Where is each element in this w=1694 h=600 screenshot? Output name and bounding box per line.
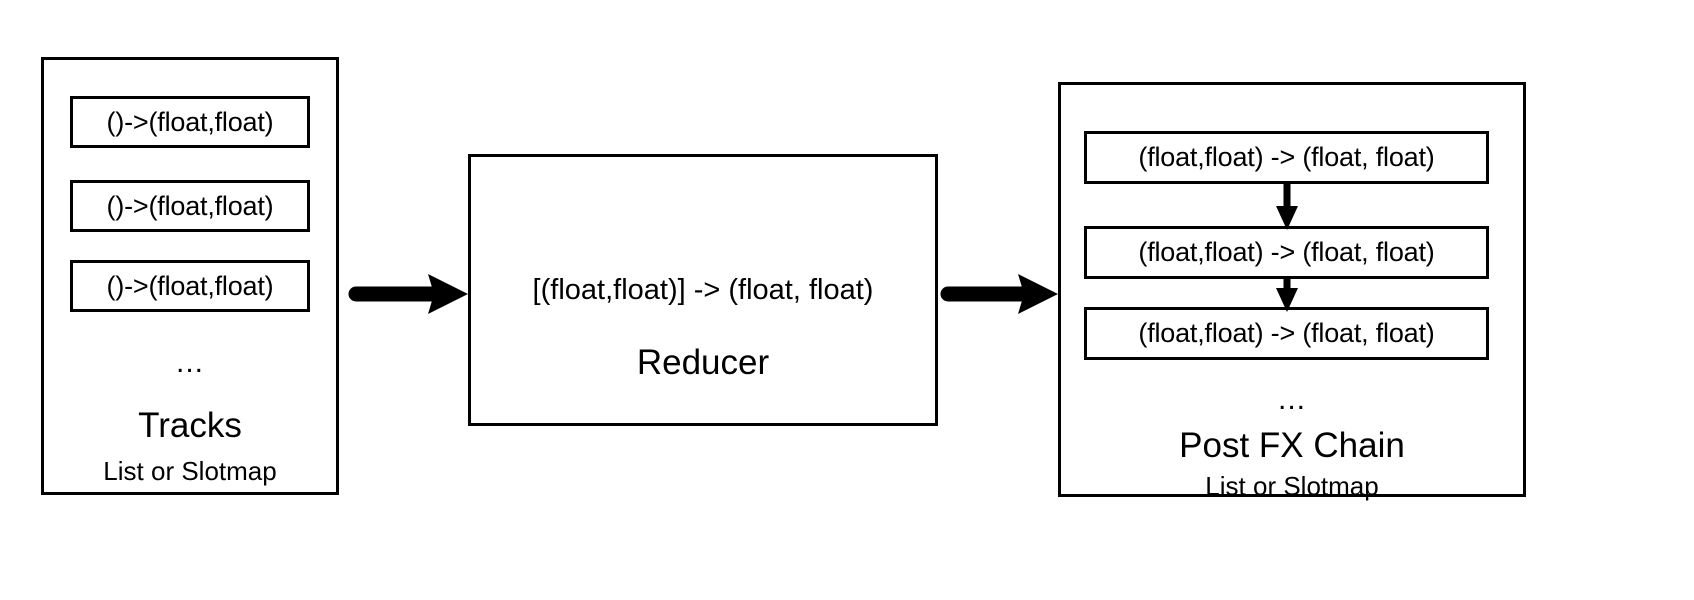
postfx-subcaption: List or Slotmap — [1058, 473, 1526, 499]
arrow-tracks-to-reducer-icon — [356, 274, 468, 314]
arrow-reducer-to-postfx-icon — [948, 274, 1058, 314]
reducer-title: Reducer — [468, 345, 938, 380]
track-item-2[interactable]: ()->(float,float) — [70, 180, 310, 232]
postfx-item-1-label: (float,float) -> (float, float) — [1138, 144, 1434, 171]
postfx-caption: Post FX Chain — [1058, 428, 1526, 463]
track-item-1[interactable]: ()->(float,float) — [70, 96, 310, 148]
postfx-item-3-label: (float,float) -> (float, float) — [1138, 320, 1434, 347]
track-item-3-label: ()->(float,float) — [107, 273, 274, 300]
tracks-ellipsis: ... — [41, 348, 339, 378]
tracks-caption: Tracks — [41, 408, 339, 443]
diagram-canvas: ()->(float,float) ()->(float,float) ()->… — [0, 0, 1694, 600]
tracks-subcaption: List or Slotmap — [41, 458, 339, 484]
reducer-signature: [(float,float)] -> (float, float) — [468, 276, 938, 305]
postfx-item-2[interactable]: (float,float) -> (float, float) — [1084, 226, 1489, 279]
track-item-2-label: ()->(float,float) — [107, 193, 274, 220]
postfx-item-1[interactable]: (float,float) -> (float, float) — [1084, 131, 1489, 184]
postfx-ellipsis: ... — [1058, 385, 1526, 415]
track-item-3[interactable]: ()->(float,float) — [70, 260, 310, 312]
track-item-1-label: ()->(float,float) — [107, 109, 274, 136]
postfx-item-2-label: (float,float) -> (float, float) — [1138, 239, 1434, 266]
postfx-item-3[interactable]: (float,float) -> (float, float) — [1084, 307, 1489, 360]
